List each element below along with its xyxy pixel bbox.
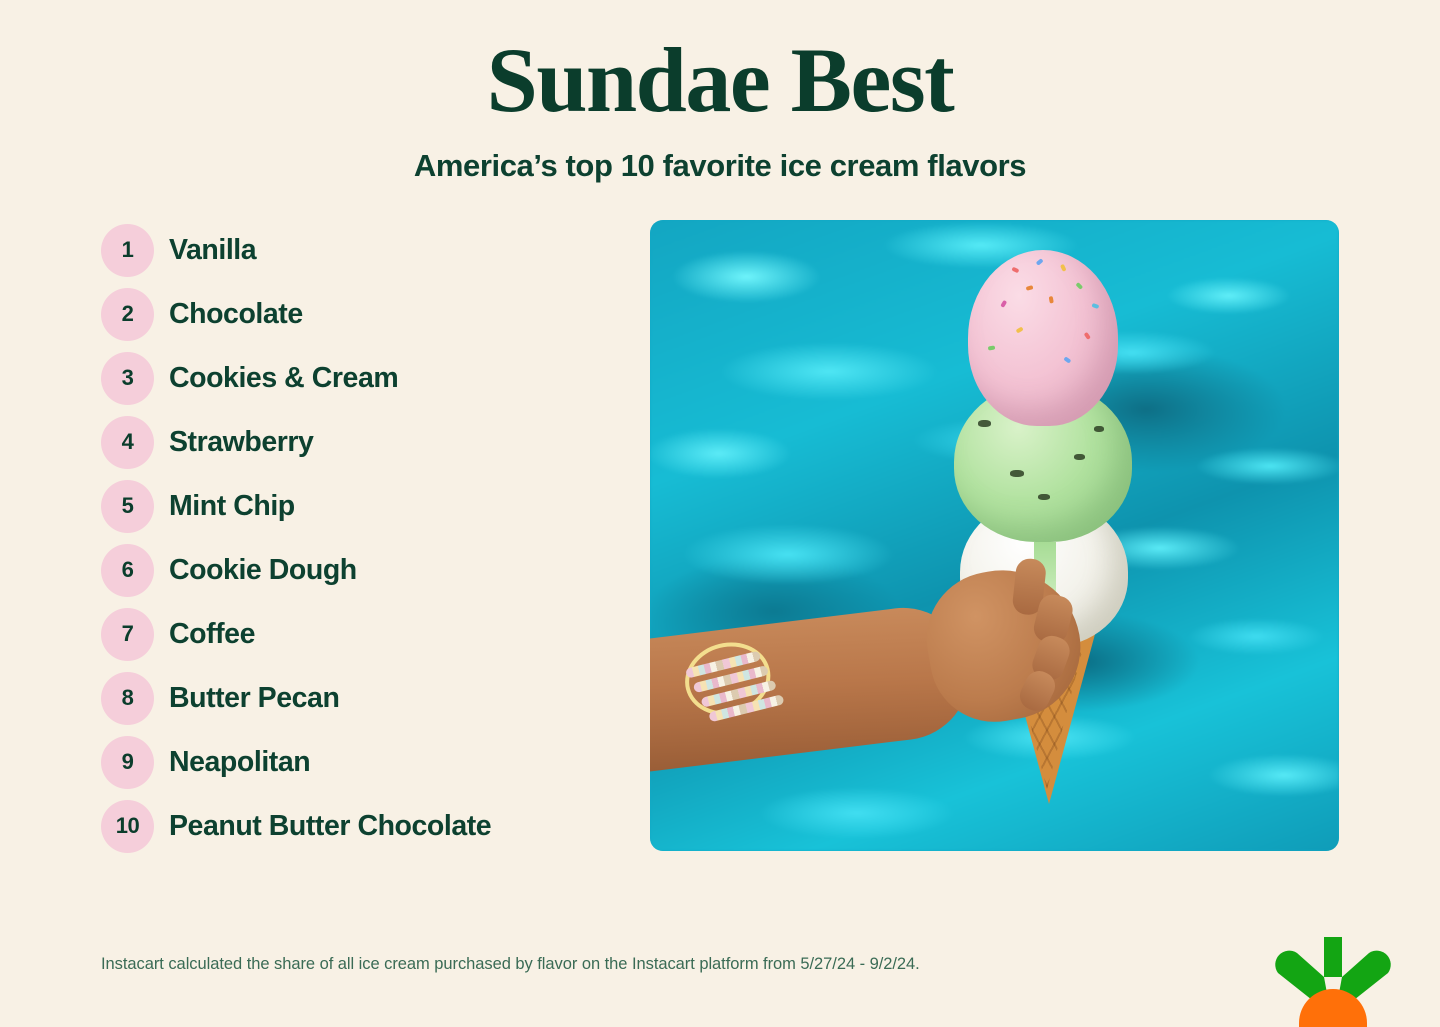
list-item: 4 Strawberry: [101, 410, 555, 474]
flavor-name: Butter Pecan: [169, 682, 339, 715]
list-item: 3 Cookies & Cream: [101, 346, 555, 410]
instacart-carrot-logo: [1269, 931, 1397, 1027]
sprinkle: [1064, 356, 1072, 363]
flavor-name: Mint Chip: [169, 490, 295, 523]
chocolate-chip: [1010, 470, 1024, 477]
sprinkle: [1000, 300, 1007, 308]
sprinkle: [1026, 285, 1034, 290]
rank-badge: 6: [101, 544, 154, 597]
flavor-name: Cookie Dough: [169, 554, 357, 587]
rank-badge: 8: [101, 672, 154, 725]
list-item: 5 Mint Chip: [101, 474, 555, 538]
sprinkle: [1084, 332, 1091, 340]
flavor-name: Neapolitan: [169, 746, 310, 779]
main-content: 1 Vanilla 2 Chocolate 3 Cookies & Cream …: [0, 218, 1440, 858]
page-title: Sundae Best: [0, 34, 1440, 126]
page-subtitle: America’s top 10 favorite ice cream flav…: [0, 148, 1440, 184]
list-item: 8 Butter Pecan: [101, 666, 555, 730]
flavor-name: Chocolate: [169, 298, 303, 331]
flavor-name: Vanilla: [169, 234, 256, 267]
strawberry-scoop: [968, 250, 1118, 426]
flavor-name: Strawberry: [169, 426, 313, 459]
chocolate-chip: [1038, 494, 1050, 500]
flavor-name: Coffee: [169, 618, 255, 651]
list-item: 1 Vanilla: [101, 218, 555, 282]
chocolate-chip: [1094, 426, 1104, 432]
chocolate-chip: [978, 420, 991, 427]
list-item: 2 Chocolate: [101, 282, 555, 346]
ice-cream-photo: [650, 220, 1339, 851]
rank-badge: 7: [101, 608, 154, 661]
flavor-name: Peanut Butter Chocolate: [169, 810, 491, 843]
rank-badge: 9: [101, 736, 154, 789]
footer-note: Instacart calculated the share of all ic…: [101, 955, 920, 974]
sprinkle: [1060, 264, 1066, 272]
rank-badge: 4: [101, 416, 154, 469]
flavor-ranking-list: 1 Vanilla 2 Chocolate 3 Cookies & Cream …: [0, 218, 555, 858]
flavor-name: Cookies & Cream: [169, 362, 398, 395]
list-item: 7 Coffee: [101, 602, 555, 666]
sprinkle: [1016, 326, 1024, 333]
list-item: 6 Cookie Dough: [101, 538, 555, 602]
sprinkle: [1076, 282, 1083, 289]
rank-badge: 5: [101, 480, 154, 533]
page-header: Sundae Best America’s top 10 favorite ic…: [0, 0, 1440, 184]
sprinkle: [1036, 258, 1044, 265]
rank-badge: 1: [101, 224, 154, 277]
ice-cream-cone: [942, 242, 1132, 802]
sprinkle: [1092, 303, 1100, 309]
list-item: 9 Neapolitan: [101, 730, 555, 794]
list-item: 10 Peanut Butter Chocolate: [101, 794, 555, 858]
rank-badge: 10: [101, 800, 154, 853]
rank-badge: 2: [101, 288, 154, 341]
chocolate-chip: [1074, 454, 1085, 460]
sprinkle: [988, 345, 996, 350]
rank-badge: 3: [101, 352, 154, 405]
sprinkle: [1049, 296, 1054, 304]
sprinkle: [1012, 267, 1020, 273]
